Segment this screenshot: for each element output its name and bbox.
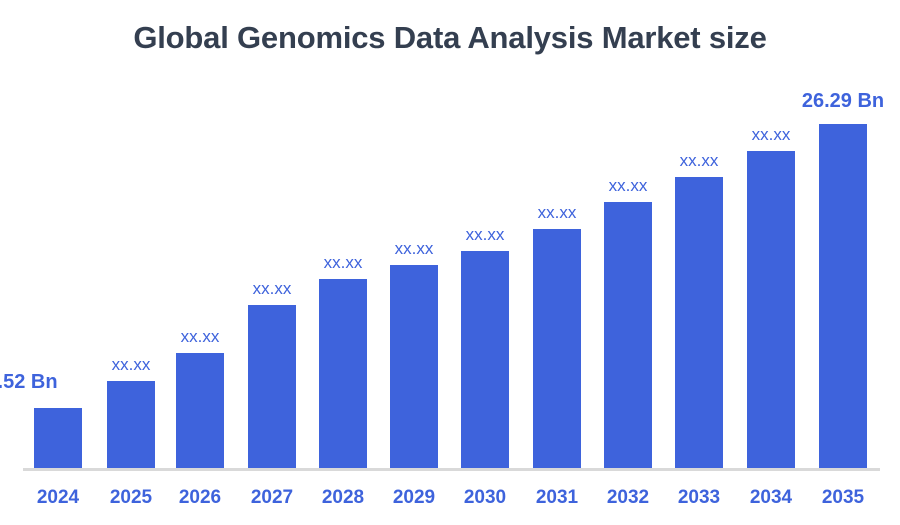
bar-value-label-2027: xx.xx [212, 279, 332, 299]
bar-value-label-2024: 5.52 Bn [0, 371, 82, 394]
chart-container: Global Genomics Data Analysis Market siz… [0, 0, 900, 525]
bar-2025[interactable] [107, 381, 155, 468]
bar-group-2035: 26.29 Bn2035 [819, 0, 867, 525]
bar-group-2026: xx.xx2026 [176, 0, 224, 525]
bar-group-2030: xx.xx2030 [461, 0, 509, 525]
bar-2027[interactable] [248, 305, 296, 468]
bar-2032[interactable] [604, 202, 652, 468]
bar-2031[interactable] [533, 229, 581, 468]
bar-group-2025: xx.xx2025 [107, 0, 155, 525]
bar-2035[interactable] [819, 124, 867, 468]
bar-2028[interactable] [319, 279, 367, 468]
bar-group-2029: xx.xx2029 [390, 0, 438, 525]
plot-area: 5.52 Bn2024xx.xx2025xx.xx2026xx.xx2027xx… [0, 0, 900, 525]
bar-value-label-2031: xx.xx [497, 203, 617, 223]
bar-value-label-2034: xx.xx [711, 125, 831, 145]
bar-group-2031: xx.xx2031 [533, 0, 581, 525]
bar-value-label-2032: xx.xx [568, 176, 688, 196]
bar-group-2024: 5.52 Bn2024 [34, 0, 82, 525]
bar-value-label-2030: xx.xx [425, 225, 545, 245]
bar-2024[interactable] [34, 408, 82, 468]
bar-group-2028: xx.xx2028 [319, 0, 367, 525]
bar-value-label-2033: xx.xx [639, 151, 759, 171]
bar-group-2034: xx.xx2034 [747, 0, 795, 525]
bar-group-2032: xx.xx2032 [604, 0, 652, 525]
bar-value-label-2035: 26.29 Bn [783, 90, 900, 113]
bar-group-2033: xx.xx2033 [675, 0, 723, 525]
bar-2030[interactable] [461, 251, 509, 468]
bar-2033[interactable] [675, 177, 723, 468]
bar-2026[interactable] [176, 353, 224, 468]
bar-value-label-2026: xx.xx [140, 327, 260, 347]
bar-series: 5.52 Bn2024xx.xx2025xx.xx2026xx.xx2027xx… [0, 0, 900, 525]
bar-2034[interactable] [747, 151, 795, 468]
bar-2029[interactable] [390, 265, 438, 468]
bar-value-label-2025: xx.xx [71, 355, 191, 375]
x-tick-label-2035: 2035 [783, 487, 900, 509]
